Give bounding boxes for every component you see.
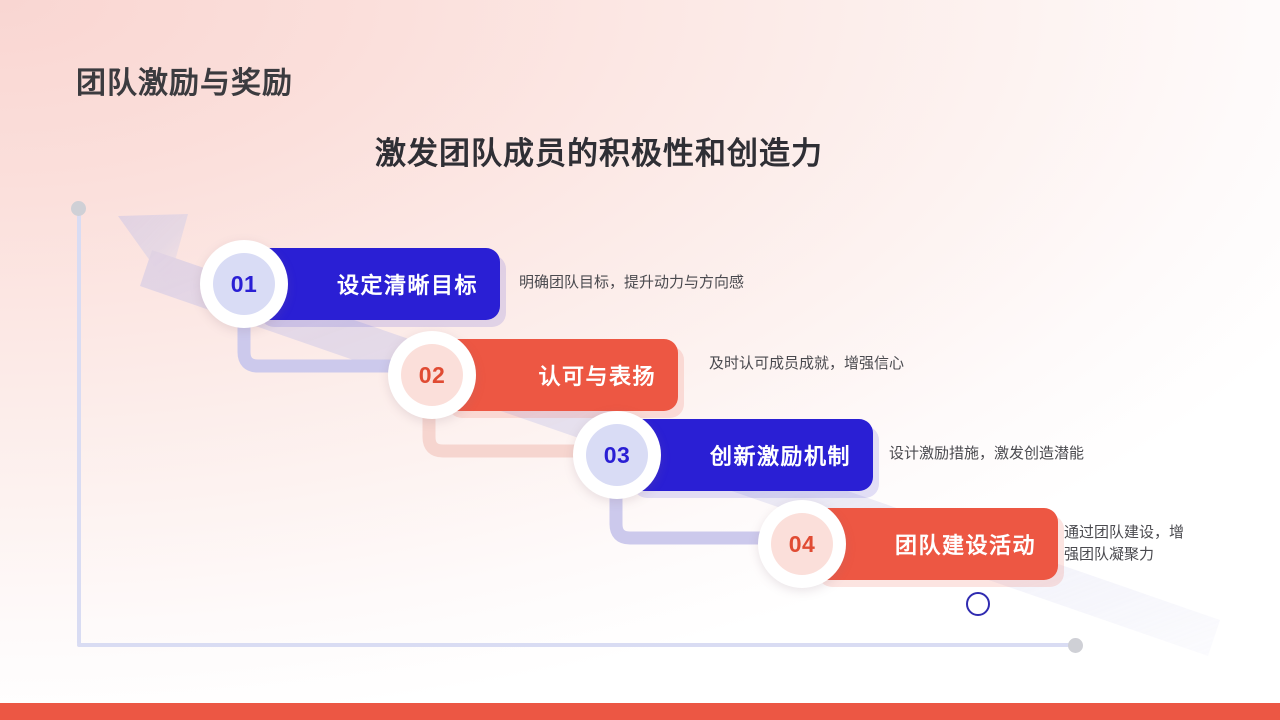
step-row-03[interactable]: 创新激励机制 03 — [573, 419, 873, 491]
step-label-03: 创新激励机制 — [627, 439, 873, 471]
step-number-circle-02[interactable]: 02 — [388, 331, 476, 419]
step-row-04[interactable]: 团队建设活动 04 — [758, 508, 1058, 580]
bottom-accent-bar — [0, 703, 1280, 720]
step-number-04: 04 — [771, 513, 833, 575]
step-number-01: 01 — [213, 253, 275, 315]
step-number-circle-04[interactable]: 04 — [758, 500, 846, 588]
axis-top-dot-icon — [71, 201, 86, 216]
axis-right-dot-icon — [1068, 638, 1083, 653]
slide-canvas: 团队激励与奖励 激发团队成员的积极性和创造力 设定清晰目标 01 明确团队目标，… — [0, 0, 1280, 720]
step-description-03: 设计激励措施，激发创造潜能 — [889, 443, 1189, 465]
axis-vertical-line — [77, 208, 81, 645]
axis-horizontal-line — [77, 643, 1081, 647]
page-title: 团队激励与奖励 — [76, 58, 293, 102]
step-row-01[interactable]: 设定清晰目标 01 — [200, 248, 500, 320]
step-description-04: 通过团队建设，增 强团队凝聚力 — [1064, 522, 1224, 566]
step-number-03: 03 — [586, 424, 648, 486]
step-description-02: 及时认可成员成就，增强信心 — [709, 353, 1009, 375]
step-label-01: 设定清晰目标 — [254, 268, 500, 300]
step-chip-02[interactable]: 认可与表扬 — [442, 339, 678, 411]
step-label-04: 团队建设活动 — [812, 528, 1058, 560]
step-chip-04[interactable]: 团队建设活动 — [812, 508, 1058, 580]
page-subtitle: 激发团队成员的积极性和创造力 — [375, 128, 823, 173]
hollow-circle-decoration-icon — [966, 592, 990, 616]
step-chip-03[interactable]: 创新激励机制 — [627, 419, 873, 491]
step-description-01: 明确团队目标，提升动力与方向感 — [519, 272, 819, 294]
step-row-02[interactable]: 认可与表扬 02 — [388, 339, 688, 411]
step-chip-01[interactable]: 设定清晰目标 — [254, 248, 500, 320]
step-number-circle-03[interactable]: 03 — [573, 411, 661, 499]
step-number-circle-01[interactable]: 01 — [200, 240, 288, 328]
step-number-02: 02 — [401, 344, 463, 406]
step-label-02: 认可与表扬 — [442, 359, 678, 391]
